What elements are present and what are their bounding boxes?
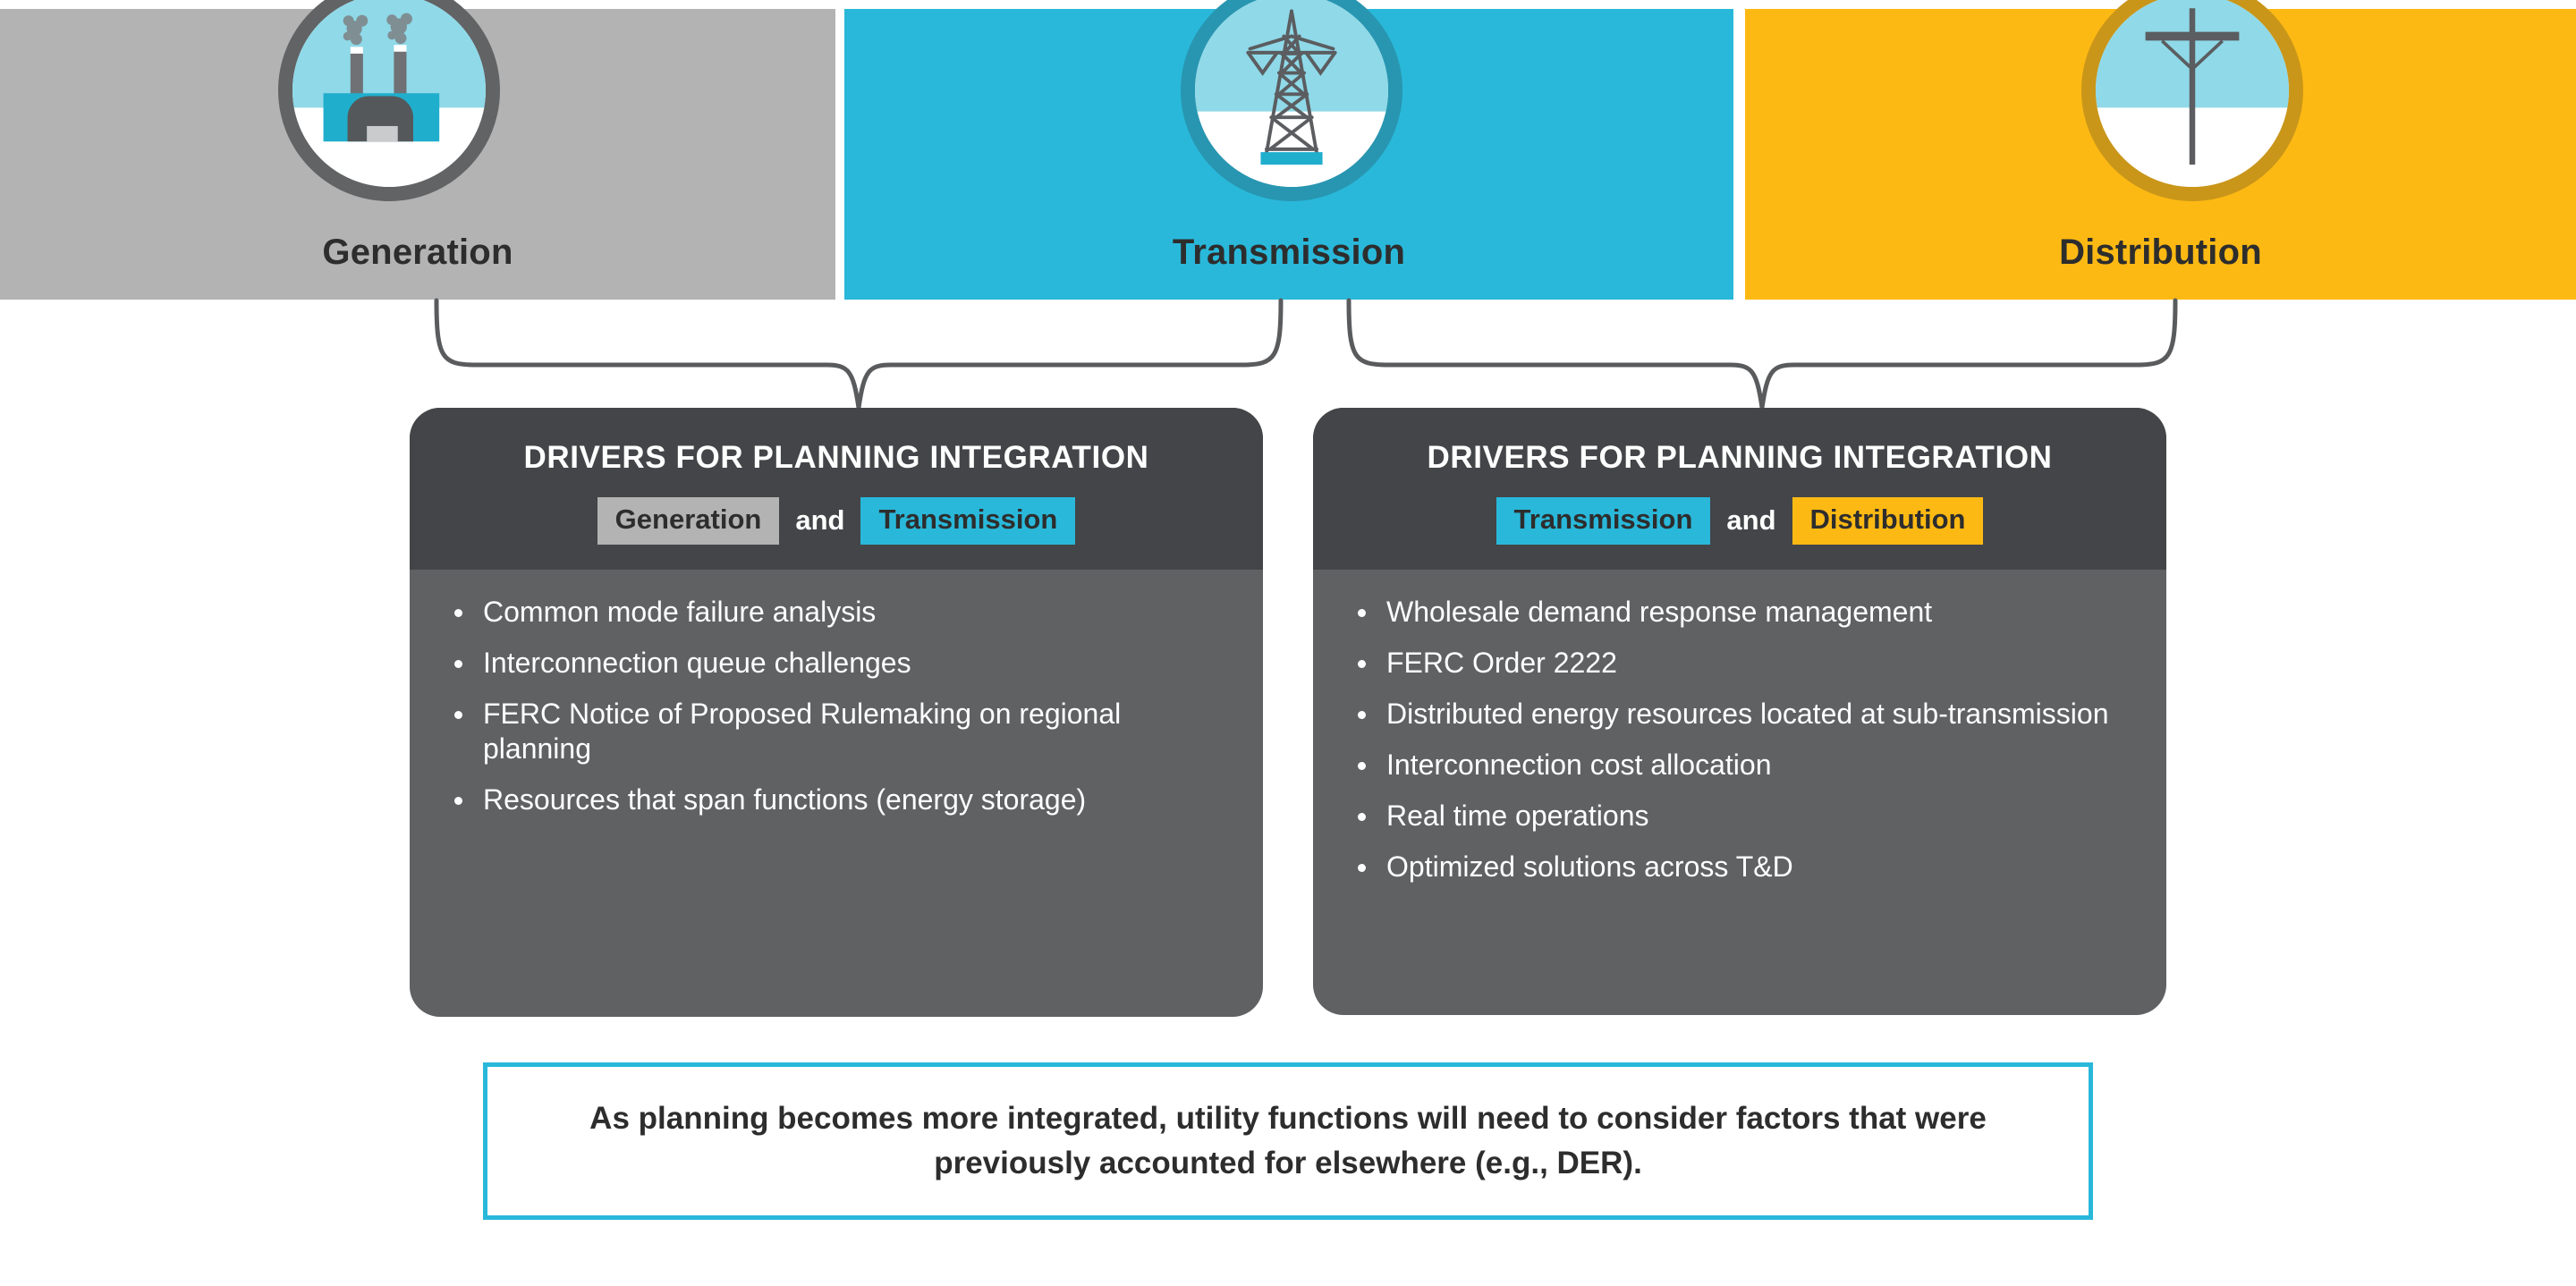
summary-callout-box: As planning becomes more integrated, uti… xyxy=(483,1062,2093,1220)
chip-generation[interactable]: Generation xyxy=(597,497,780,545)
card-chip-row: Transmission and Distribution xyxy=(1313,497,2166,545)
list-item: Wholesale demand response management xyxy=(1352,595,2127,630)
list-item: Interconnection cost allocation xyxy=(1352,748,2127,783)
brace-connector-right xyxy=(1342,297,2182,411)
drivers-card-transmission-distribution: DRIVERS FOR PLANNING INTEGRATION Transmi… xyxy=(1313,408,2166,1015)
list-item: Distributed energy resources located at … xyxy=(1352,697,2127,732)
list-item: Common mode failure analysis xyxy=(449,595,1224,630)
card-header: DRIVERS FOR PLANNING INTEGRATION Generat… xyxy=(410,408,1263,570)
list-item: Resources that span functions (energy st… xyxy=(449,783,1224,817)
card-header: DRIVERS FOR PLANNING INTEGRATION Transmi… xyxy=(1313,408,2166,570)
brace-connector-left xyxy=(429,297,1288,411)
card-title: DRIVERS FOR PLANNING INTEGRATION xyxy=(1313,440,2166,476)
summary-callout-text: As planning becomes more integrated, uti… xyxy=(555,1096,2021,1185)
function-label-distribution: Distribution xyxy=(1745,233,2576,273)
list-item: Real time operations xyxy=(1352,799,2127,833)
card-body: Wholesale demand response management FER… xyxy=(1313,570,2166,884)
card-body: Common mode failure analysis Interconnec… xyxy=(410,570,1263,817)
chip-transmission[interactable]: Transmission xyxy=(860,497,1075,545)
chip-conjunction: and xyxy=(779,504,860,537)
list-item: FERC Notice of Proposed Rulemaking on re… xyxy=(449,697,1224,766)
diagram-canvas: Generation Transmission Distribution xyxy=(0,0,2576,1286)
driver-list: Wholesale demand response management FER… xyxy=(1352,595,2127,884)
list-item: Optimized solutions across T&D xyxy=(1352,850,2127,884)
drivers-card-generation-transmission: DRIVERS FOR PLANNING INTEGRATION Generat… xyxy=(410,408,1263,1017)
card-chip-row: Generation and Transmission xyxy=(410,497,1263,545)
list-item: FERC Order 2222 xyxy=(1352,646,2127,681)
chip-distribution[interactable]: Distribution xyxy=(1792,497,1984,545)
function-label-transmission: Transmission xyxy=(844,233,1733,273)
driver-list: Common mode failure analysis Interconnec… xyxy=(449,595,1224,817)
function-label-generation: Generation xyxy=(0,233,835,273)
list-item: Interconnection queue challenges xyxy=(449,646,1224,681)
chip-conjunction: and xyxy=(1710,504,1792,537)
chip-transmission[interactable]: Transmission xyxy=(1496,497,1711,545)
card-title: DRIVERS FOR PLANNING INTEGRATION xyxy=(410,440,1263,476)
